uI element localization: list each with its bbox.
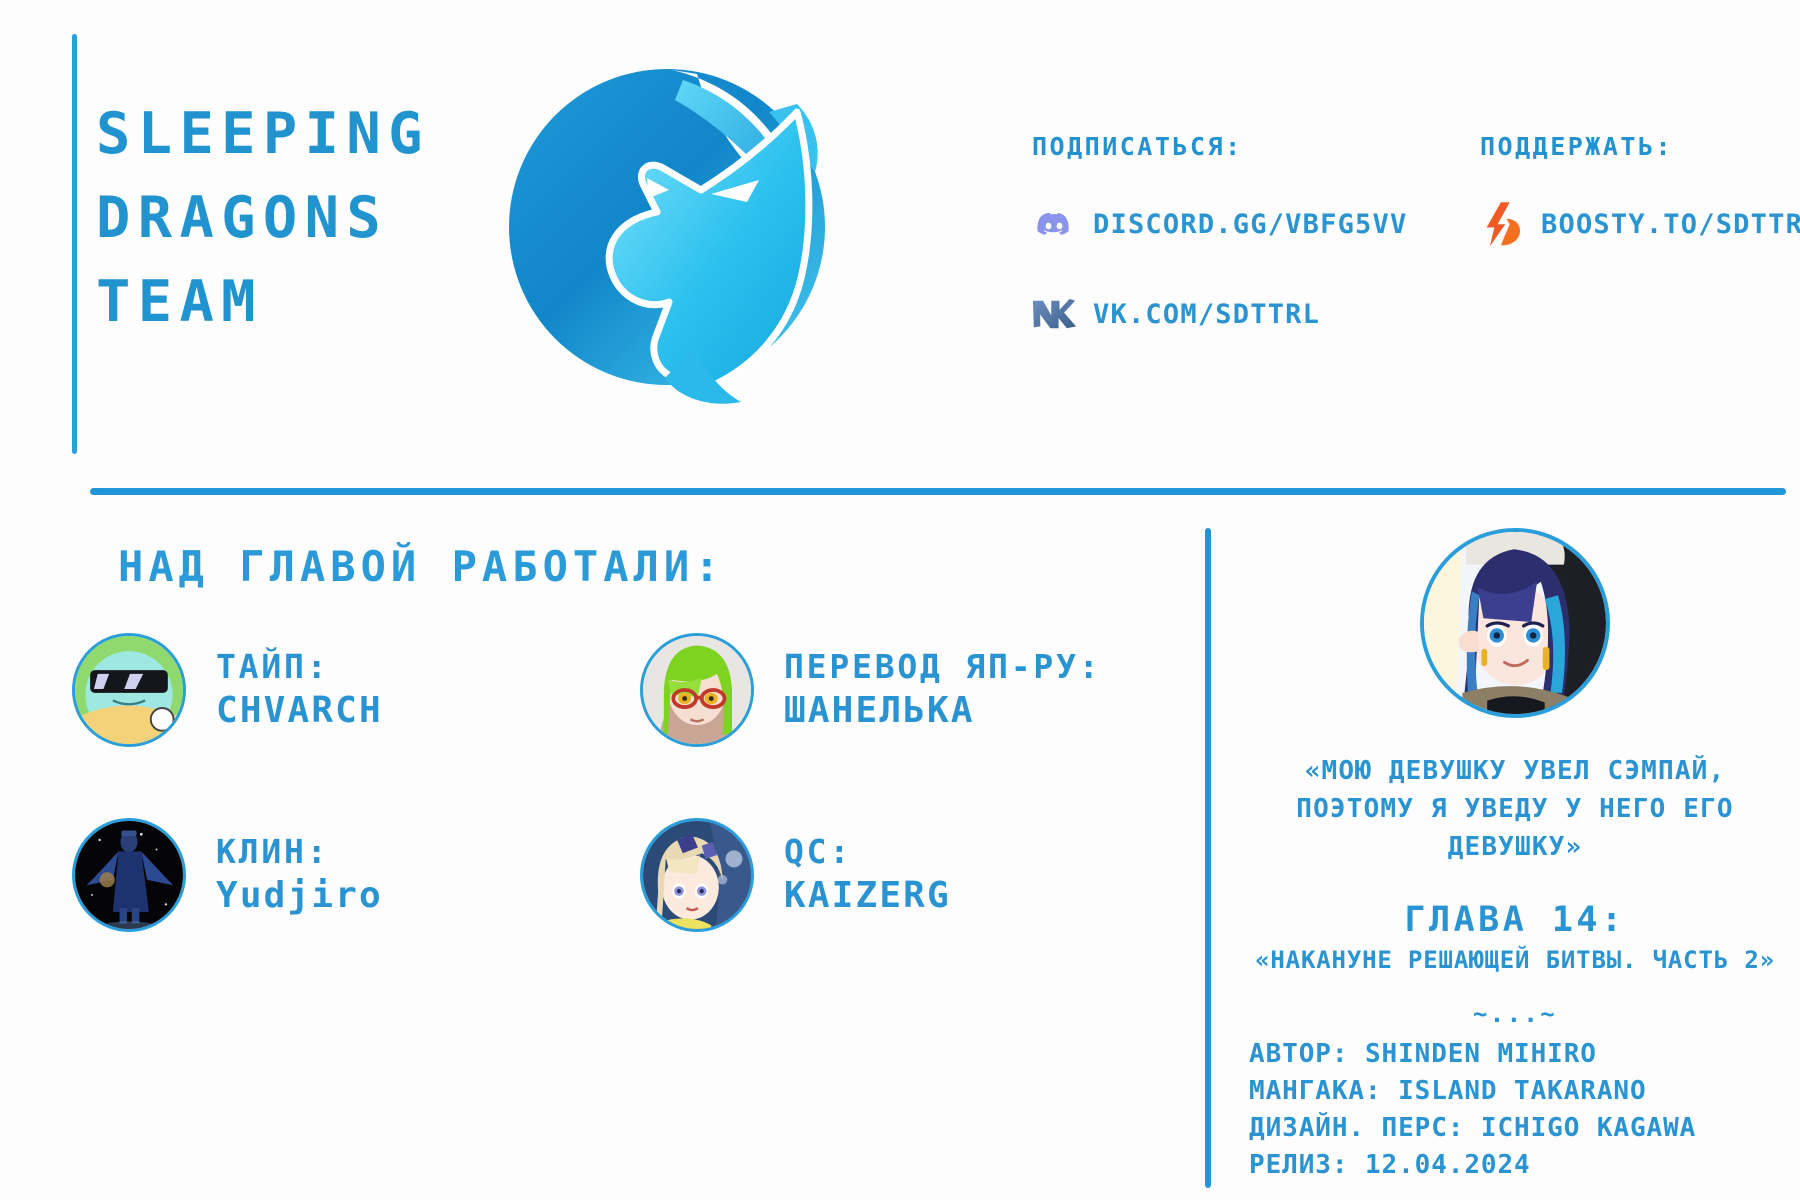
discord-icon — [1032, 202, 1076, 246]
support-heading: ПОДДЕРЖАТЬ: — [1480, 132, 1800, 161]
credit-name: Yudjiro — [216, 876, 383, 916]
release-meta-list: АВТОР: SHINDEN MIHIRO МАНГАКА: ISLAND TA… — [1245, 1036, 1785, 1184]
dragon-logo-icon — [497, 52, 837, 412]
credit-text: QC: KAIZERG — [784, 834, 951, 916]
credit-role: QC: — [784, 834, 951, 871]
manga-title: «МОЮ ДЕВУШКУ УВЕЛ СЭМПАЙ, ПОЭТОМУ Я УВЕД… — [1245, 752, 1785, 866]
credit-name: ШАНЕЛЬКА — [784, 691, 1101, 731]
credit-member: QC: KAIZERG — [640, 818, 951, 932]
avatar-green-hair-glasses — [640, 633, 754, 747]
brand-line-2: DRAGONS — [96, 176, 496, 260]
header: SLEEPING DRAGONS TEAM — [0, 0, 1800, 470]
avatar-squirtle-sunglasses — [72, 633, 186, 747]
left-accent-bar — [72, 34, 77, 454]
avatar-blonde-girl — [640, 818, 754, 932]
brand-line-3: TEAM — [96, 260, 496, 344]
credit-text: ТАЙП: CHVARCH — [216, 649, 383, 731]
meta-author: АВТОР: SHINDEN MIHIRO — [1249, 1036, 1785, 1073]
brand-line-1: SLEEPING — [96, 92, 496, 176]
meta-release-date: РЕЛИЗ: 12.04.2024 — [1249, 1147, 1785, 1184]
vk-icon — [1032, 292, 1076, 336]
credit-member: ПЕРЕВОД ЯП-РУ: ШАНЕЛЬКА — [640, 633, 1101, 747]
vk-link-label: VK.COM/SDTTRL — [1093, 299, 1320, 330]
credit-role: ПЕРЕВОД ЯП-РУ: — [784, 649, 1101, 686]
boosty-icon — [1480, 202, 1524, 246]
credit-role: КЛИН: — [216, 834, 383, 871]
support-column: ПОДДЕРЖАТЬ: BOOSTY.TO/SDTTRL — [1480, 132, 1800, 291]
vertical-divider — [1205, 528, 1211, 1188]
header-divider — [90, 488, 1786, 495]
credit-member: ТАЙП: CHVARCH — [72, 633, 383, 747]
separator-ornament: ~...~ — [1245, 1000, 1785, 1028]
meta-character-design: ДИЗАЙН. ПЕРС: ICHIGO KAGAWA — [1249, 1110, 1785, 1147]
vk-link[interactable]: VK.COM/SDTTRL — [1032, 291, 1407, 337]
discord-link-label: DISCORD.GG/VBFG5VV — [1093, 209, 1407, 240]
credits-heading: НАД ГЛАВОЙ РАБОТАЛИ: — [118, 542, 725, 591]
credit-name: KAIZERG — [784, 876, 951, 916]
credits-page: SLEEPING DRAGONS TEAM — [0, 0, 1800, 1200]
chapter-number: ГЛАВА 14: — [1245, 900, 1785, 940]
subscribe-column: ПОДПИСАТЬСЯ: DISCORD.GG/VBFG5VV — [1032, 132, 1407, 381]
credit-text: КЛИН: Yudjiro — [216, 834, 383, 916]
subscribe-heading: ПОДПИСАТЬСЯ: — [1032, 132, 1407, 161]
avatar-blue-hair-heroine — [1420, 528, 1610, 718]
credit-name: CHVARCH — [216, 691, 383, 731]
boosty-link[interactable]: BOOSTY.TO/SDTTRL — [1480, 201, 1800, 247]
body-area: НАД ГЛАВОЙ РАБОТАЛИ: ТАЙП: CHVARCH — [0, 500, 1800, 1200]
credit-role: ТАЙП: — [216, 649, 383, 686]
chapter-subtitle: «НАКАНУНЕ РЕШАЮЩЕЙ БИТВЫ. ЧАСТЬ 2» — [1245, 946, 1785, 974]
discord-link[interactable]: DISCORD.GG/VBFG5VV — [1032, 201, 1407, 247]
brand-title: SLEEPING DRAGONS TEAM — [96, 92, 496, 344]
meta-mangaka: МАНГАКА: ISLAND TAKARANO — [1249, 1073, 1785, 1110]
release-panel: «МОЮ ДЕВУШКУ УВЕЛ СЭМПАЙ, ПОЭТОМУ Я УВЕД… — [1245, 500, 1785, 1184]
avatar-cosmic-figure — [72, 818, 186, 932]
boosty-link-label: BOOSTY.TO/SDTTRL — [1541, 209, 1800, 240]
credit-text: ПЕРЕВОД ЯП-РУ: ШАНЕЛЬКА — [784, 649, 1101, 731]
credit-member: КЛИН: Yudjiro — [72, 818, 383, 932]
